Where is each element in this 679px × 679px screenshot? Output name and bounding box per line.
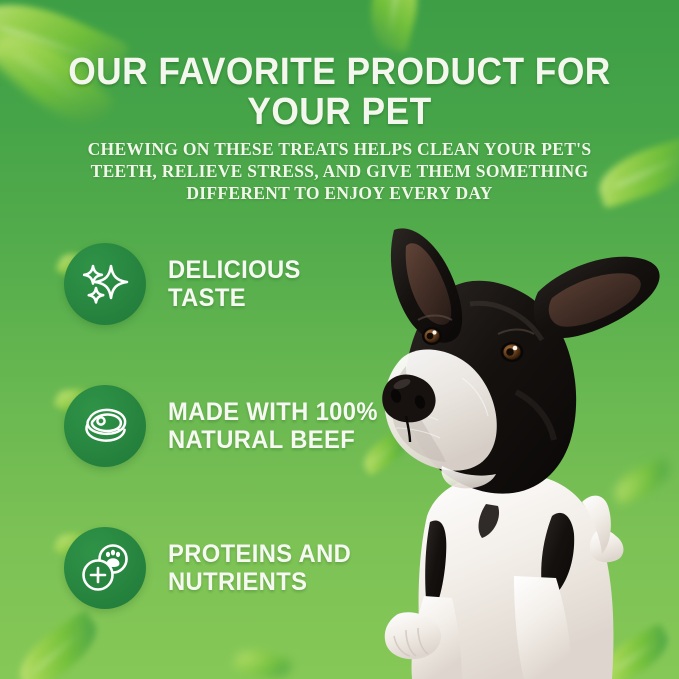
feature-label: MADE WITH 100% NATURAL BEEF (168, 398, 378, 454)
feature-item-delicious-taste: DELICIOUS TASTE (64, 240, 394, 328)
leaf-icon (234, 644, 293, 679)
sparkle-icon (64, 243, 146, 325)
feature-label: DELICIOUS TASTE (168, 256, 383, 312)
feature-item-natural-beef: MADE WITH 100% NATURAL BEEF (64, 382, 394, 470)
page-title: OUR FAVORITE PRODUCT FOR YOUR PET (24, 52, 655, 132)
feature-item-proteins-nutrients: PROTEINS AND NUTRIENTS (64, 524, 394, 612)
dog-photo (366, 216, 679, 679)
product-feature-poster: OUR FAVORITE PRODUCT FOR YOUR PET CHEWIN… (0, 0, 679, 679)
header-block: OUR FAVORITE PRODUCT FOR YOUR PET CHEWIN… (0, 52, 679, 204)
feature-label: PROTEINS AND NUTRIENTS (168, 540, 351, 596)
leaf-icon (362, 0, 427, 53)
page-subtitle: CHEWING ON THESE TREATS HELPS CLEAN YOUR… (80, 138, 600, 204)
steak-icon (64, 385, 146, 467)
leaf-icon (9, 610, 108, 679)
paw-plus-icon (64, 527, 146, 609)
feature-list: DELICIOUS TASTE MADE WITH 100% NATURAL B… (64, 240, 394, 612)
